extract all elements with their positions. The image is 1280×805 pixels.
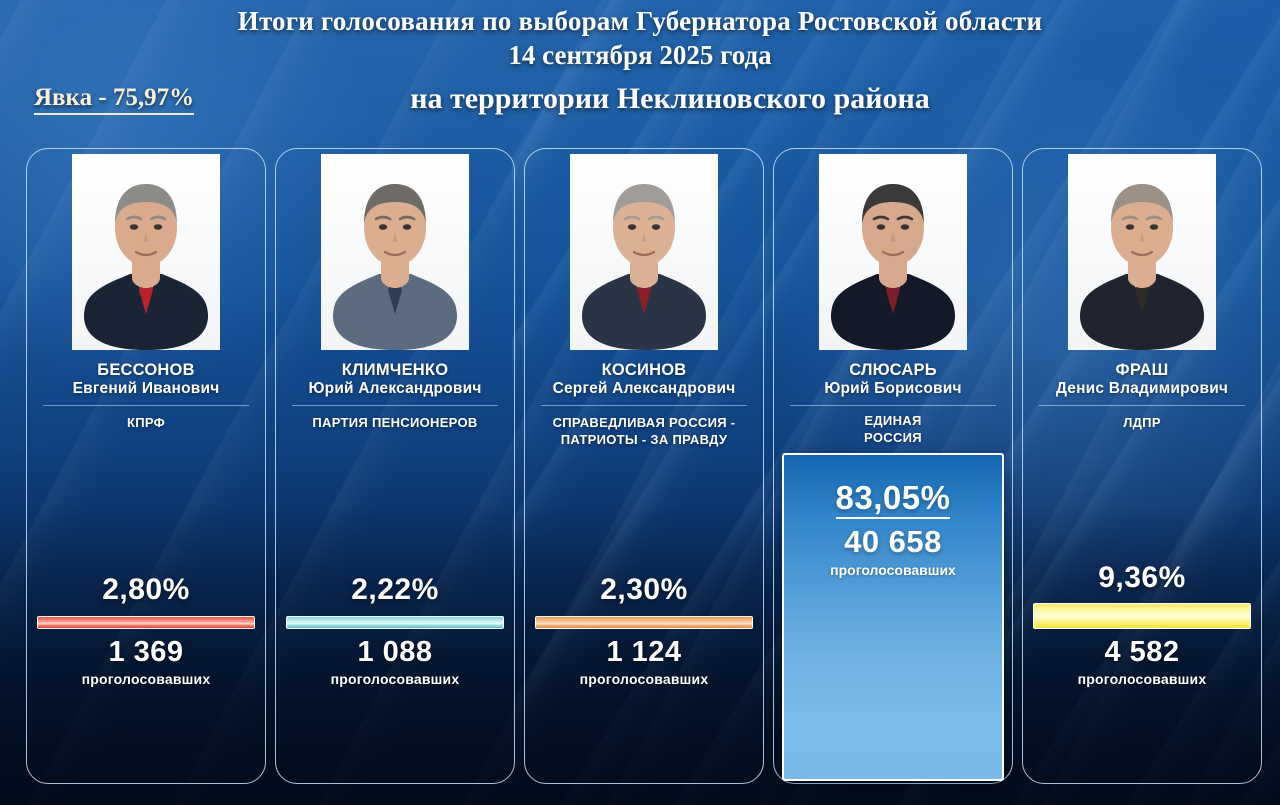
candidate-surname: ФРАШ: [1116, 361, 1169, 379]
candidate-name: БЕССОНОВ Евгений Иванович: [33, 361, 259, 398]
candidate-votes-label: проголосовавших: [1031, 671, 1253, 687]
candidate-votes: 4 582: [1031, 638, 1253, 667]
candidate-result: 9,36% 4 582 проголосовавших: [1031, 563, 1253, 687]
candidate-given-name: Юрий Борисович: [780, 380, 1006, 398]
candidate-result-bar: [286, 616, 504, 629]
candidate-photo: [819, 154, 967, 350]
name-divider: [43, 405, 249, 406]
candidate-percent: 2,22%: [284, 575, 506, 605]
candidate-votes-label: проголосовавших: [784, 562, 1002, 578]
name-divider: [292, 405, 498, 406]
candidate-percent: 2,80%: [35, 575, 257, 605]
infographic-root: Итоги голосования по выборам Губернатора…: [0, 0, 1280, 805]
page-title-line-2: 14 сентября 2025 года: [0, 39, 1280, 71]
candidate-given-name: Денис Владимирович: [1029, 380, 1255, 398]
page-title-line-1: Итоги голосования по выборам Губернатора…: [0, 6, 1280, 38]
candidate-name: СЛЮСАРЬ Юрий Борисович: [780, 361, 1006, 398]
candidate-given-name: Евгений Иванович: [33, 380, 259, 398]
candidate-votes: 1 369: [35, 638, 257, 667]
candidate-result-bar: [37, 616, 255, 629]
candidate-card-list: БЕССОНОВ Евгений Иванович КПРФ 2,80% 1 3…: [0, 148, 1280, 784]
candidate-result-bar: [1033, 603, 1251, 629]
candidate-party: КПРФ: [33, 415, 259, 432]
candidate-result: 2,30% 1 124 проголосовавших: [533, 575, 755, 687]
candidate-party: СПРАВЕДЛИВАЯ РОССИЯ - ПАТРИОТЫ - ЗА ПРАВ…: [531, 415, 757, 448]
turnout-label: Явка - 75,97%: [34, 84, 194, 115]
candidate-votes-label: проголосовавших: [35, 671, 257, 687]
candidate-votes-label: проголосовавших: [284, 671, 506, 687]
candidate-percent: 2,30%: [533, 575, 755, 605]
candidate-card: СЛЮСАРЬ Юрий Борисович ЕДИНАЯ РОССИЯ 83,…: [773, 148, 1013, 784]
candidate-votes: 1 088: [284, 638, 506, 667]
candidate-photo: [570, 154, 718, 350]
name-divider: [790, 405, 996, 406]
candidate-percent: 9,36%: [1031, 563, 1253, 593]
candidate-name: КЛИМЧЕНКО Юрий Александрович: [282, 361, 508, 398]
candidate-photo: [72, 154, 220, 350]
candidate-surname: СЛЮСАРЬ: [849, 361, 937, 379]
candidate-party: ЕДИНАЯ РОССИЯ: [780, 413, 1006, 446]
candidate-card: КОСИНОВ Сергей Александрович СПРАВЕДЛИВА…: [524, 148, 764, 784]
candidate-result-bar: [535, 616, 753, 629]
name-divider: [541, 405, 747, 406]
candidate-votes-label: проголосовавших: [533, 671, 755, 687]
candidate-votes: 40 658: [784, 526, 1002, 557]
candidate-party: ПАРТИЯ ПЕНСИОНЕРОВ: [282, 415, 508, 432]
candidate-name: КОСИНОВ Сергей Александрович: [531, 361, 757, 398]
candidate-party: ЛДПР: [1029, 415, 1255, 432]
candidate-photo: [1068, 154, 1216, 350]
candidate-card: БЕССОНОВ Евгений Иванович КПРФ 2,80% 1 3…: [26, 148, 266, 784]
candidate-result: 2,22% 1 088 проголосовавших: [284, 575, 506, 687]
candidate-surname: КЛИМЧЕНКО: [342, 361, 448, 379]
candidate-votes: 1 124: [533, 638, 755, 667]
candidate-card: КЛИМЧЕНКО Юрий Александрович ПАРТИЯ ПЕНС…: [275, 148, 515, 784]
winner-result-panel: 83,05% 40 658 проголосовавших: [782, 453, 1004, 781]
candidate-card: ФРАШ Денис Владимирович ЛДПР 9,36% 4 582…: [1022, 148, 1262, 784]
candidate-result: 2,80% 1 369 проголосовавших: [35, 575, 257, 687]
candidate-photo: [321, 154, 469, 350]
candidate-surname: БЕССОНОВ: [97, 361, 194, 379]
candidate-given-name: Юрий Александрович: [282, 380, 508, 398]
candidate-surname: КОСИНОВ: [602, 361, 687, 379]
candidate-name: ФРАШ Денис Владимирович: [1029, 361, 1255, 398]
candidate-percent: 83,05%: [836, 481, 951, 519]
candidate-given-name: Сергей Александрович: [531, 380, 757, 398]
name-divider: [1039, 405, 1245, 406]
